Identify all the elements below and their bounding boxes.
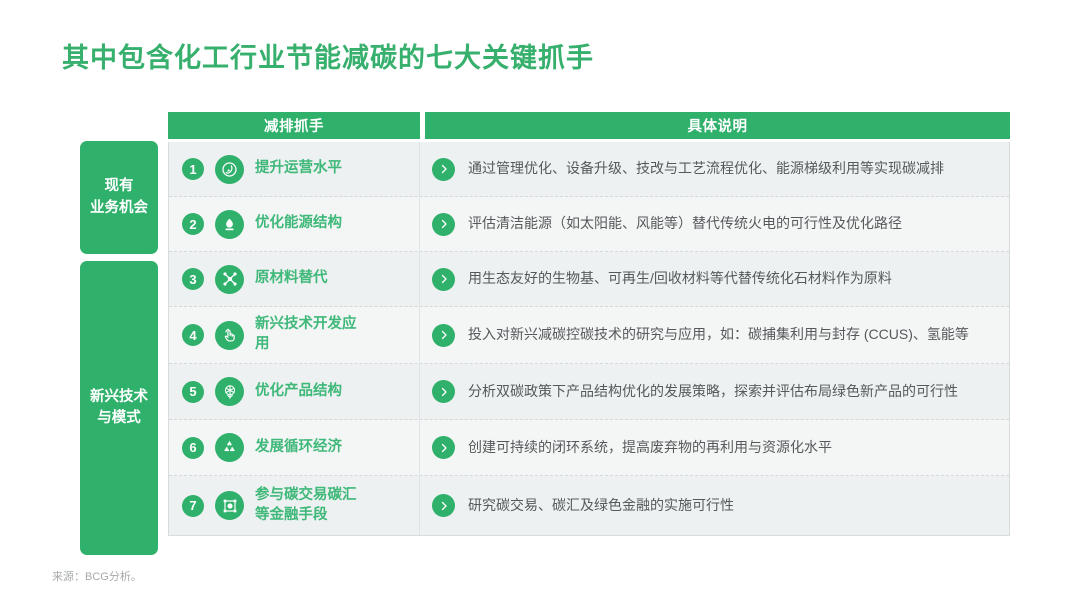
category-sidebar: 现有业务机会 新兴技术与模式 [80,141,158,555]
detail-text: 投入对新兴减碳控碳技术的研究与应用，如：碳捕集利用与封存 (CCUS)、氢能等 [468,324,969,346]
measure-cell: 1 提升运营水平 [169,142,420,196]
table-body: 1 提升运营水平 通过管理优化、设备升级、技改与工艺流程优化、能源梯级利用等实现… [168,142,1010,536]
column-header-measure: 减排抓手 [168,112,420,139]
table-row[interactable]: 4 新兴技术开发应用 投入对新兴减碳控碳技术的研究与应用，如：碳捕集利用与封存 … [169,307,1009,364]
table-row[interactable]: 3 原材料替代 用生态友好的生物基、可再生/回收材料等代替传统化石材料作 [169,252,1009,307]
detail-text: 用生态友好的生物基、可再生/回收材料等代替传统化石材料作为原料 [468,268,892,290]
detail-cell: 投入对新兴减碳控碳技术的研究与应用，如：碳捕集利用与封存 (CCUS)、氢能等 [420,307,1009,363]
measure-cell: 2 优化能源结构 [169,197,420,251]
measure-label: 提升运营水平 [255,159,342,179]
measure-cell: 3 原材料替代 [169,252,420,306]
measure-cell: 5 优化产品结构 [169,364,420,419]
chevron-right-icon [432,436,455,459]
molecule-icon [215,265,244,294]
table-row[interactable]: 2 优化能源结构 评估清洁能源（如太阳能、风能等）替代传统火电的可行性及优化路径 [169,197,1009,252]
sidebar-category-existing-opportunities[interactable]: 现有业务机会 [80,141,158,254]
measure-label: 参与碳交易碳汇等金融手段 [255,486,367,525]
detail-cell: 评估清洁能源（如太阳能、风能等）替代传统火电的可行性及优化路径 [420,197,1009,251]
chevron-right-icon [432,324,455,347]
measure-label: 新兴技术开发应用 [255,315,363,354]
table-row[interactable]: 1 提升运营水平 通过管理优化、设备升级、技改与工艺流程优化、能源梯级利用等实现… [169,142,1009,197]
chevron-right-icon [432,494,455,517]
tree-icon [215,377,244,406]
row-number-badge: 7 [182,495,204,517]
table-row[interactable]: 6 发展循环经济 创建可持续的闭环系统，提高废弃物的再利用与资源化水平 [169,420,1009,476]
table-row[interactable]: 7 参与碳交易碳汇等金融手段 研究碳交易、碳汇 [169,476,1009,535]
chevron-right-icon [432,268,455,291]
row-number-badge: 4 [182,324,204,346]
table-header-row: 减排抓手 具体说明 [168,112,1010,139]
measure-label: 优化能源结构 [255,214,342,234]
chevron-right-icon [432,213,455,236]
measure-cell: 7 参与碳交易碳汇等金融手段 [169,476,420,535]
detail-text: 通过管理优化、设备升级、技改与工艺流程优化、能源梯级利用等实现碳减排 [468,158,944,180]
measure-label: 优化产品结构 [255,382,342,402]
leaf-arrow-icon [215,155,244,184]
column-header-detail: 具体说明 [425,112,1010,139]
hand-tap-icon [215,321,244,350]
row-number-badge: 3 [182,268,204,290]
measure-cell: 6 发展循环经济 [169,420,420,475]
chevron-right-icon [432,158,455,181]
sidebar-category-label: 现有业务机会 [86,176,152,218]
page-title: 其中包含化工行业节能减碳的七大关键抓手 [62,36,594,75]
detail-cell: 分析双碳政策下产品结构优化的发展策略，探索并评估布局绿色新产品的可行性 [420,364,1009,419]
sidebar-category-label: 新兴技术与模式 [86,387,152,429]
detail-cell: 创建可持续的闭环系统，提高废弃物的再利用与资源化水平 [420,420,1009,475]
carbon-trading-icon [215,491,244,520]
row-number-badge: 6 [182,437,204,459]
detail-text: 研究碳交易、碳汇及绿色金融的实施可行性 [468,495,734,517]
source-note: 来源：BCG分析。 [52,568,142,584]
measure-label: 发展循环经济 [255,438,342,458]
row-number-badge: 1 [182,158,204,180]
table-row[interactable]: 5 优化产品结构 分析双碳政策下产品结构优化的发展策略，探索并评估布局绿色新产品… [169,364,1009,420]
sidebar-category-emerging-tech[interactable]: 新兴技术与模式 [80,261,158,555]
chevron-right-icon [432,380,455,403]
detail-text: 创建可持续的闭环系统，提高废弃物的再利用与资源化水平 [468,437,832,459]
row-number-badge: 2 [182,213,204,235]
detail-cell: 通过管理优化、设备升级、技改与工艺流程优化、能源梯级利用等实现碳减排 [420,142,1009,196]
detail-text: 评估清洁能源（如太阳能、风能等）替代传统火电的可行性及优化路径 [468,213,902,235]
detail-cell: 研究碳交易、碳汇及绿色金融的实施可行性 [420,476,1009,535]
row-number-badge: 5 [182,381,204,403]
recycle-icon [215,433,244,462]
measure-label: 原材料替代 [255,269,328,289]
levers-table: 减排抓手 具体说明 1 提升运营水平 通过管理优化 [168,112,1010,536]
measure-cell: 4 新兴技术开发应用 [169,307,420,363]
detail-cell: 用生态友好的生物基、可再生/回收材料等代替传统化石材料作为原料 [420,252,1009,306]
detail-text: 分析双碳政策下产品结构优化的发展策略，探索并评估布局绿色新产品的可行性 [468,381,958,403]
flame-burner-icon [215,210,244,239]
